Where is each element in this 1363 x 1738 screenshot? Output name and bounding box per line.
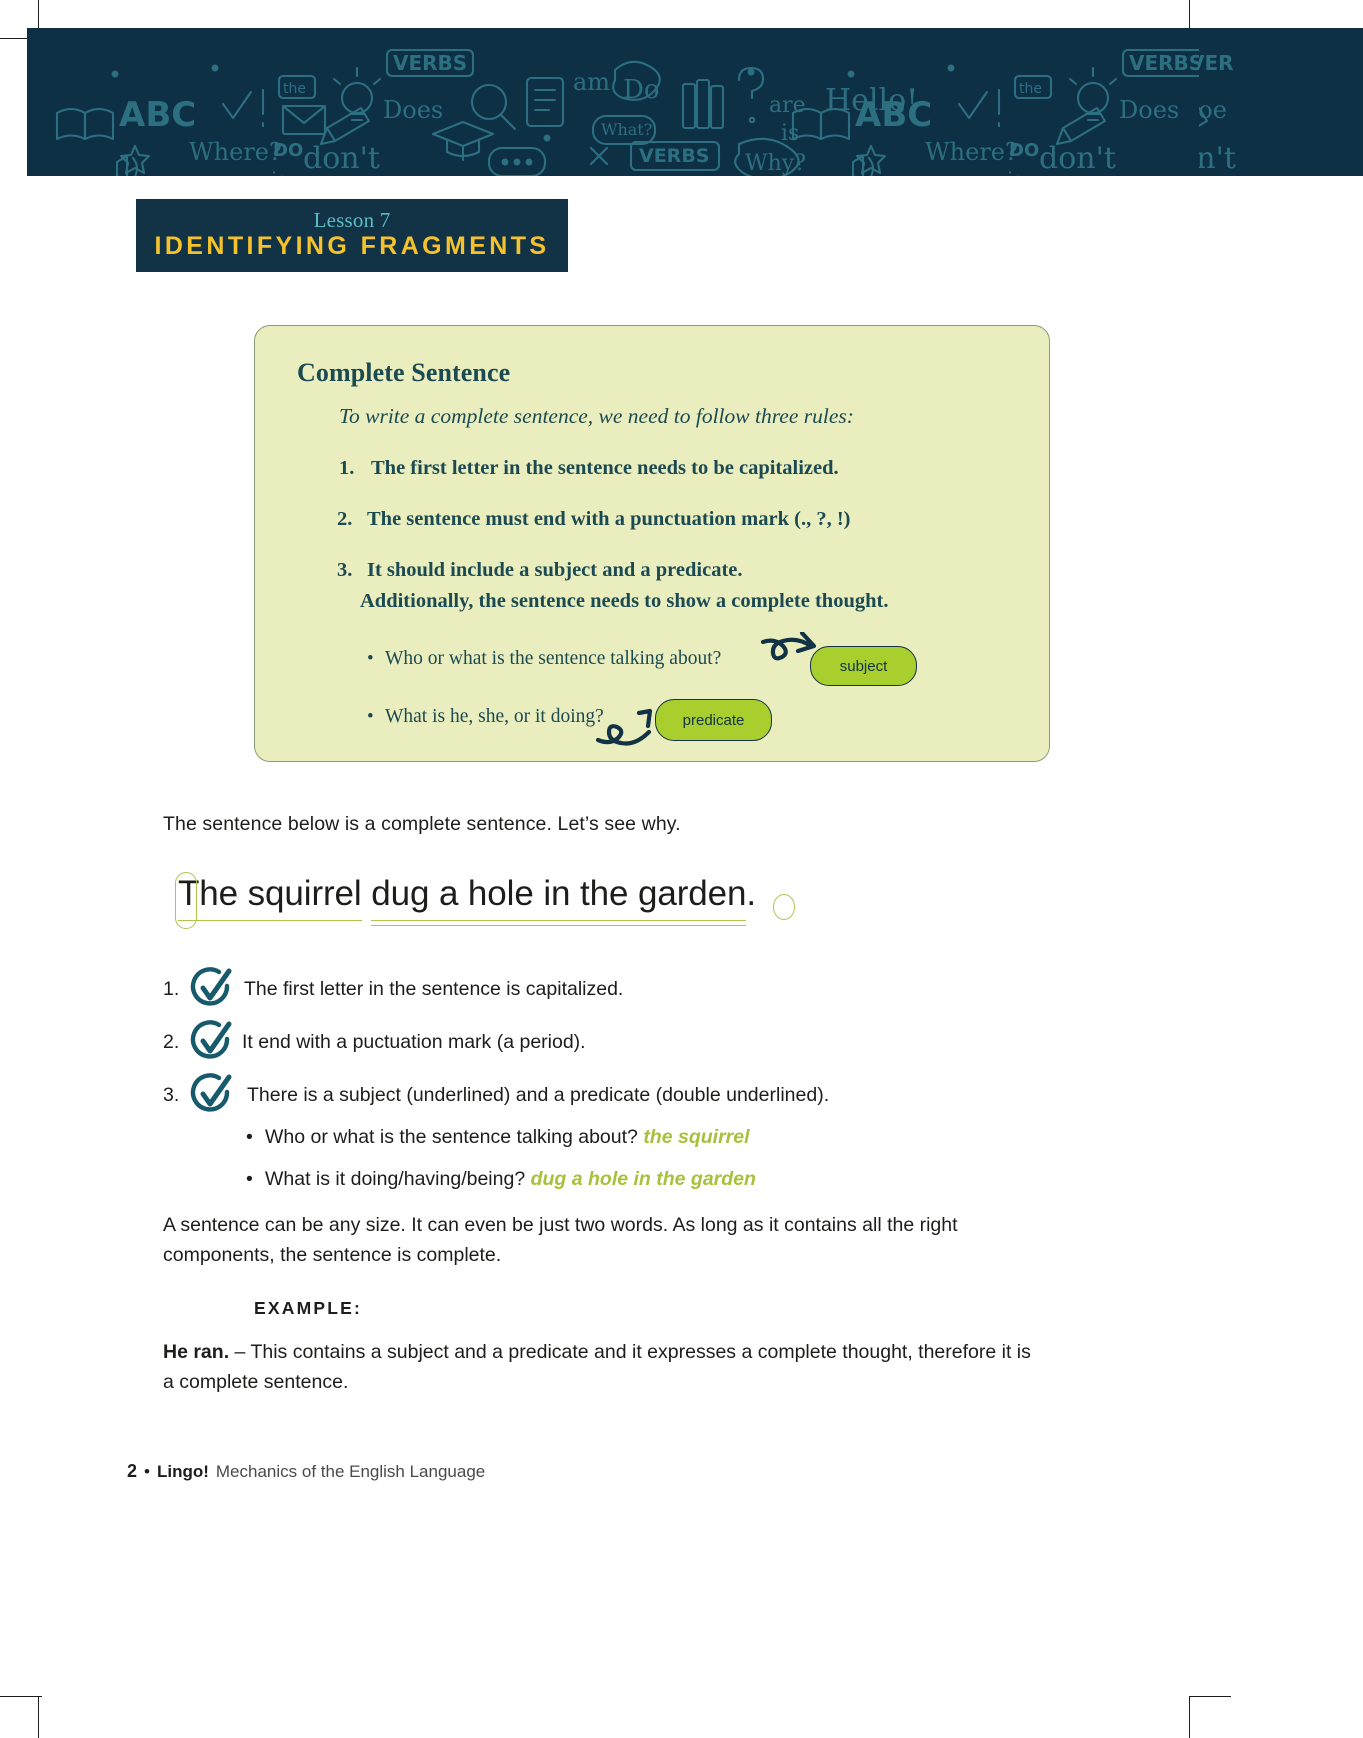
decorative-doodle-banner: ABC the VERBS Does [27, 28, 1199, 176]
crop-mark-bottom-right-horizontal [1189, 1696, 1231, 1697]
question-text: What is he, she, or it doing? [385, 706, 604, 727]
check-text: There is a subject (underlined) and a pr… [247, 1084, 829, 1107]
example-period: . [746, 874, 756, 913]
svg-text:VER: VER [1199, 51, 1234, 75]
page-number: 2 [127, 1461, 137, 1482]
rule-number: 2. [337, 508, 367, 531]
capital-letter-highlight-ring [175, 872, 197, 929]
sub-bullet-answer: dug a hole in the garden [531, 1168, 756, 1190]
footer-brand: Lingo! [157, 1462, 209, 1482]
rule-number: 3. [337, 559, 367, 582]
svg-text:VERBS: VERBS [1129, 51, 1199, 75]
sub-bullet-subject: •Who or what is the sentence talking abo… [246, 1126, 750, 1149]
lesson-number: Lesson 7 [314, 209, 391, 231]
footer-separator: • [144, 1462, 150, 1482]
svg-text:the: the [1019, 81, 1042, 97]
rule-text: The first letter in the sentence needs t… [371, 457, 839, 479]
bullet-dot: • [246, 1126, 265, 1149]
check-number: 2. [163, 1031, 179, 1054]
rule-text: The sentence must end with a punctuation… [367, 508, 850, 530]
lesson-title-block: Lesson 7 IDENTIFYING FRAGMENTS [136, 199, 568, 272]
check-circle-icon [189, 1020, 235, 1070]
sub-bullet-question: What is it doing/having/being? [265, 1168, 525, 1190]
svg-text:Doe: Doe [1199, 96, 1227, 124]
example-bold-sentence: He ran. [163, 1341, 229, 1363]
sub-bullet-predicate: •What is it doing/having/being? dug a ho… [246, 1168, 756, 1191]
rule-item-3: 3.It should include a subject and a pred… [337, 559, 743, 582]
period-highlight-ring [773, 894, 795, 920]
lesson-title: IDENTIFYING FRAGMENTS [154, 231, 549, 262]
callout-pill-subject: subject [810, 646, 917, 686]
intro-line: The sentence below is a complete sentenc… [163, 813, 681, 836]
footer-subtitle: Mechanics of the English Language [216, 1462, 485, 1482]
svg-text:ABC: ABC [855, 95, 932, 135]
decorative-doodle-banner-right: VER Doe don't [1199, 28, 1363, 176]
svg-text:don't: don't [1199, 141, 1236, 176]
svg-text:VERBS: VERBS [639, 145, 709, 167]
check-number: 3. [163, 1084, 179, 1107]
rule-number: 1. [339, 457, 371, 480]
check-circle-icon [189, 967, 235, 1017]
complete-sentence-card: Complete Sentence To write a complete se… [254, 325, 1050, 762]
svg-text:Where?: Where? [189, 138, 282, 166]
svg-text:the: the [283, 81, 306, 97]
svg-text:ABC: ABC [119, 95, 196, 135]
svg-text:is: is [781, 121, 799, 146]
svg-text:is: is [271, 167, 288, 176]
example-sentence: The squirrel dug a hole in the garden. [178, 874, 756, 914]
example-label: EXAMPLE: [254, 1298, 362, 1319]
crop-mark-bottom-right-vertical [1189, 1696, 1190, 1738]
svg-text:Does: Does [1119, 96, 1179, 124]
svg-text:is: is [1007, 167, 1024, 176]
svg-text:are: are [769, 93, 806, 118]
crop-mark-bottom-left-horizontal [0, 1696, 42, 1697]
body-paragraph-1: A sentence can be any size. It can even … [163, 1210, 1073, 1270]
rule-item-2: 2.The sentence must end with a punctuati… [337, 508, 850, 531]
question-bullet-subject: •Who or what is the sentence talking abo… [367, 648, 721, 670]
rule-item-3-continuation: Additionally, the sentence needs to show… [360, 590, 888, 613]
check-circle-icon [189, 1073, 235, 1123]
example-explanation: – This contains a subject and a predicat… [163, 1341, 1031, 1393]
svg-text:don't: don't [303, 141, 380, 176]
svg-text:Does: Does [383, 96, 443, 124]
check-text: It end with a puctuation mark (a period)… [242, 1031, 586, 1054]
card-heading: Complete Sentence [297, 358, 510, 388]
check-text: The first letter in the sentence is capi… [244, 978, 623, 1001]
check-number: 1. [163, 978, 179, 1001]
svg-text:Why?: Why? [745, 151, 806, 176]
svg-text:What?: What? [601, 120, 652, 139]
svg-text:Where?: Where? [925, 138, 1018, 166]
crop-mark-bottom-left-vertical [38, 1696, 39, 1738]
rule-text: It should include a subject and a predic… [367, 559, 743, 581]
question-text: Who or what is the sentence talking abou… [385, 648, 721, 669]
sub-bullet-answer: the squirrel [643, 1126, 749, 1148]
bullet-dot: • [367, 706, 385, 728]
page-footer: 2 • Lingo! Mechanics of the English Lang… [127, 1461, 485, 1482]
bullet-dot: • [246, 1168, 265, 1191]
callout-pill-predicate: predicate [655, 699, 772, 741]
bullet-dot: • [367, 648, 385, 670]
example-predicate: dug a hole in the garden [371, 874, 746, 921]
card-intro-text: To write a complete sentence, we need to… [339, 404, 854, 429]
svg-text:am: am [573, 68, 610, 96]
svg-text:don't: don't [1039, 141, 1116, 176]
svg-text:DO: DO [273, 140, 303, 161]
sub-bullet-question: Who or what is the sentence talking abou… [265, 1126, 638, 1148]
body-paragraph-2: He ran. – This contains a subject and a … [163, 1337, 1043, 1397]
example-subject: The squirrel [178, 874, 362, 921]
rule-item-1: 1.The first letter in the sentence needs… [339, 457, 839, 480]
svg-text:VERBS: VERBS [393, 51, 467, 75]
question-bullet-predicate: •What is he, she, or it doing? [367, 706, 604, 728]
svg-text:DO: DO [1009, 140, 1039, 161]
